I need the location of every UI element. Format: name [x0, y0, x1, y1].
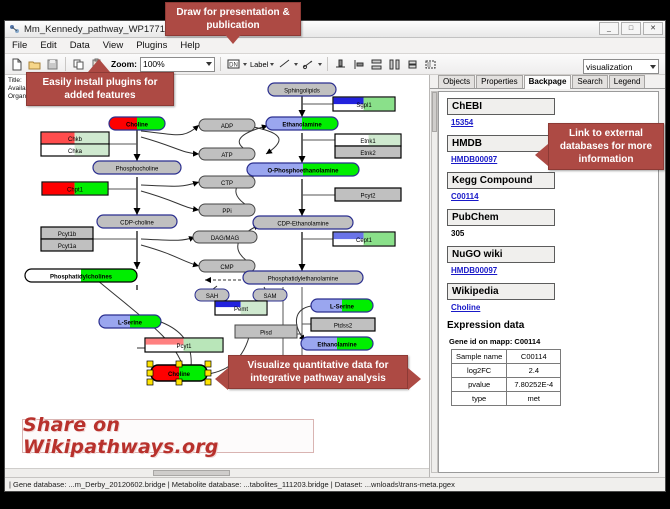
menu-file[interactable]: File [10, 40, 29, 51]
maximize-button[interactable]: □ [621, 22, 641, 35]
node-sam[interactable]: SAM [253, 289, 287, 301]
scrollbar-thumb[interactable] [153, 470, 229, 476]
db-header-wikipedia: Wikipedia [447, 283, 555, 300]
svg-text:L-Serine: L-Serine [330, 305, 355, 311]
svg-text:O-Phosphoethanolamine: O-Phosphoethanolamine [267, 169, 339, 175]
metabolite-nodes: Choline Phosphocholine CDP-choline [25, 83, 373, 350]
tab-properties[interactable]: Properties [476, 75, 522, 88]
open-file-icon[interactable] [27, 57, 42, 72]
callout-plugins: Easily install plugins for added feature… [26, 72, 174, 106]
svg-text:Choline: Choline [168, 372, 191, 378]
db-header-pubchem: PubChem [447, 209, 555, 226]
node-ethanolamine-bottom[interactable]: Ethanolamine [301, 337, 373, 350]
distribute-vertical-icon[interactable] [369, 57, 384, 72]
node-ethanolamine-top[interactable]: Ethanolamine [266, 117, 338, 130]
title-bar: Mm_Kennedy_pathway_WP1771_45176.gpml _ □… [5, 21, 665, 38]
tab-search[interactable]: Search [572, 75, 607, 88]
node-pcyt1[interactable]: Pcyt1 [145, 338, 223, 352]
callout-visualize-arrow-right-icon [408, 368, 421, 390]
chevron-down-icon [650, 65, 656, 69]
chevron-down-icon [243, 63, 247, 66]
chevron-down-icon [294, 63, 298, 66]
svg-text:DAG/MAG: DAG/MAG [211, 236, 240, 242]
node-choline-selected[interactable]: Choline [147, 361, 211, 385]
callout-links: Link to external databases for more info… [548, 123, 664, 170]
zoom-value: 100% [143, 59, 165, 69]
table-row: Sample name C00114 [452, 350, 561, 364]
node-cdp-choline[interactable]: CDP-choline [97, 215, 177, 228]
table-row: type met [452, 392, 561, 406]
gene-id-on-mapp: Gene id on mapp: C00114 [449, 337, 658, 346]
expression-data-title: Expression data [447, 320, 658, 331]
menu-help[interactable]: Help [178, 40, 202, 51]
node-l-serine-right[interactable]: L-Serine [311, 299, 373, 312]
status-text: | Gene database: ...m_Derby_20120602.bri… [9, 480, 455, 489]
row-value: 2.4 [507, 364, 561, 378]
callout-plugins-arrow-icon [88, 59, 110, 72]
svg-text:SAM: SAM [263, 294, 276, 300]
row-key: Sample name [452, 350, 507, 364]
interaction-tool[interactable] [301, 57, 322, 72]
zoom-combo[interactable]: 100% [140, 57, 215, 72]
new-file-icon[interactable] [9, 57, 24, 72]
svg-text:Pemt: Pemt [234, 307, 248, 313]
align-left-icon[interactable] [351, 57, 366, 72]
db-link-wikipedia[interactable]: Choline [451, 303, 658, 312]
svg-text:ATP: ATP [221, 153, 232, 159]
node-choline-top[interactable]: Choline [109, 117, 165, 130]
svg-text:Phosphatidylcholines: Phosphatidylcholines [50, 275, 113, 281]
node-sah[interactable]: SAH [195, 289, 229, 301]
visualization-combo-value: visualization [586, 62, 632, 72]
svg-text:CDP-choline: CDP-choline [120, 221, 154, 227]
node-pisd-reaction[interactable]: Pisd [235, 325, 297, 338]
datanode-tool[interactable]: DN [226, 57, 247, 72]
node-chka[interactable]: Chka [41, 144, 109, 156]
svg-text:Phosphocholine: Phosphocholine [116, 167, 159, 173]
table-row: pvalue 7.80252E-4 [452, 378, 561, 392]
svg-text:Pcyt1b: Pcyt1b [58, 232, 77, 238]
svg-text:Cept1: Cept1 [356, 238, 373, 244]
svg-text:CMP: CMP [220, 265, 233, 271]
svg-text:Ethanolamine: Ethanolamine [317, 343, 357, 349]
callout-share: Share on Wikipathways.org [22, 419, 314, 453]
tab-objects[interactable]: Objects [438, 75, 475, 88]
menu-plugins[interactable]: Plugins [134, 40, 169, 51]
db-value-pubchem: 305 [451, 229, 658, 238]
svg-text:CDP-Ethanolamine: CDP-Ethanolamine [277, 222, 329, 228]
svg-text:Phosphatidylethanolamine: Phosphatidylethanolamine [268, 277, 339, 283]
row-value: C00114 [507, 350, 561, 364]
line-tool[interactable] [277, 57, 298, 72]
svg-text:Ptdss2: Ptdss2 [334, 324, 353, 330]
chevron-down-icon [270, 63, 274, 66]
toolbar-separator [220, 57, 221, 71]
node-atp[interactable]: ATP [199, 148, 255, 160]
expression-data-table: Sample name C00114 log2FC 2.4 pvalue 7.8… [451, 349, 561, 406]
svg-text:Sphingolipids: Sphingolipids [284, 89, 320, 95]
callout-visualize-arrow-icon [215, 368, 228, 390]
svg-text:ADP: ADP [221, 124, 233, 130]
svg-text:L-Serine: L-Serine [118, 321, 143, 327]
minimize-button[interactable]: _ [599, 22, 619, 35]
callout-visualize: Visualize quantitative data for integrat… [228, 355, 408, 389]
distribute-horizontal-icon[interactable] [387, 57, 402, 72]
node-l-serine-left[interactable]: L-Serine [99, 315, 161, 328]
svg-text:Choline: Choline [126, 123, 149, 129]
backpage-vertical-scrollbar[interactable] [431, 91, 438, 473]
node-pcyt1a[interactable]: Pcyt1a [41, 239, 93, 251]
row-value: 7.80252E-4 [507, 378, 561, 392]
svg-text:PPi: PPi [222, 209, 231, 215]
canvas-horizontal-scrollbar[interactable] [5, 468, 429, 477]
node-pcyt1b[interactable]: Pcyt1b [41, 227, 93, 239]
svg-text:DN: DN [229, 63, 238, 69]
svg-text:Chpt1: Chpt1 [67, 188, 84, 194]
node-pcyt2[interactable]: Pcyt2 [335, 188, 401, 201]
db-header-nugo-wiki: NuGO wiki [447, 246, 555, 263]
node-ctp[interactable]: CTP [199, 176, 255, 188]
node-phosphatidylcholines[interactable]: Phosphatidylcholines [25, 269, 137, 282]
svg-text:Pisd: Pisd [260, 331, 272, 337]
node-phosphocholine[interactable]: Phosphocholine [93, 161, 181, 174]
callout-draw-arrow-icon [222, 31, 244, 44]
node-cept1[interactable]: Cept1 [333, 232, 395, 246]
table-row: log2FC 2.4 [452, 364, 561, 378]
toolbar-separator [65, 57, 66, 71]
node-ptdss2[interactable]: Ptdss2 [311, 318, 375, 331]
node-etnk2[interactable]: Etnk2 [335, 146, 401, 158]
node-pemt[interactable]: Pemt [215, 301, 267, 315]
node-etnk1[interactable]: Etnk1 [335, 134, 401, 146]
svg-text:Etnk1: Etnk1 [360, 139, 376, 145]
row-key: type [452, 392, 507, 406]
svg-text:SAH: SAH [206, 294, 218, 300]
svg-text:Pcyt1: Pcyt1 [176, 344, 192, 350]
node-phosphatidylethanolamine[interactable]: Phosphatidylethanolamine [243, 271, 363, 284]
visualization-combo[interactable]: visualization [583, 59, 659, 74]
chevron-down-icon [318, 63, 322, 66]
node-chkb[interactable]: Chkb [41, 132, 109, 144]
callout-links-arrow-icon [535, 144, 548, 166]
scrollbar-thumb[interactable] [432, 92, 437, 132]
row-key: log2FC [452, 364, 507, 378]
row-value: met [507, 392, 561, 406]
datanode-icon: DN [226, 57, 241, 72]
stack-icon[interactable] [405, 57, 420, 72]
db-header-kegg-compound: Kegg Compound [447, 172, 555, 189]
node-sphingolipids[interactable]: Sphingolipids [268, 83, 336, 96]
toolbar-separator [327, 57, 328, 71]
close-button[interactable]: ✕ [643, 22, 663, 35]
save-file-icon[interactable] [45, 57, 60, 72]
status-bar: | Gene database: ...m_Derby_20120602.bri… [5, 477, 665, 491]
svg-text:Chkb: Chkb [68, 137, 83, 143]
callout-share-text: Share on Wikipathways.org [23, 414, 313, 458]
interaction-icon [301, 57, 316, 72]
svg-text:Pcyt2: Pcyt2 [360, 194, 376, 200]
svg-text:Chka: Chka [68, 149, 83, 155]
menu-view[interactable]: View [101, 40, 125, 51]
label-tool[interactable]: Label [250, 60, 274, 69]
menu-bar: File Edit Data View Plugins Help [5, 38, 665, 54]
svg-text:Pcyt1a: Pcyt1a [58, 244, 77, 250]
align-top-icon[interactable] [333, 57, 348, 72]
svg-text:CTP: CTP [221, 181, 233, 187]
zoom-label: Zoom: [111, 59, 137, 69]
node-cmp[interactable]: CMP [199, 260, 255, 272]
node-sgpl1[interactable]: Sgpl1 [333, 97, 395, 111]
node-dag-mag[interactable]: DAG/MAG [193, 231, 257, 243]
side-panel-tabs: Objects Properties Backpage Search Legen… [430, 75, 665, 89]
group-icon[interactable] [423, 57, 438, 72]
db-link-kegg-compound[interactable]: C00114 [451, 192, 658, 201]
tab-legend[interactable]: Legend [609, 75, 646, 88]
label-tool-text: Label [250, 60, 268, 69]
db-header-chebi: ChEBI [447, 98, 555, 115]
window-controls: _ □ ✕ [599, 22, 663, 35]
pathvisio-icon [9, 24, 20, 35]
node-cdp-ethanolamine[interactable]: CDP-Ethanolamine [253, 216, 353, 229]
node-adp[interactable]: ADP [199, 119, 255, 131]
copy-icon[interactable] [71, 57, 86, 72]
db-link-nugo-wiki[interactable]: HMDB00097 [451, 266, 658, 275]
chevron-down-icon [206, 62, 212, 66]
node-o-phosphoethanolamine[interactable]: O-Phosphoethanolamine [247, 163, 359, 176]
menu-data[interactable]: Data [68, 40, 92, 51]
tab-backpage[interactable]: Backpage [524, 75, 572, 89]
svg-text:Sgpl1: Sgpl1 [356, 103, 372, 109]
node-chpt1[interactable]: Chpt1 [42, 182, 108, 195]
menu-edit[interactable]: Edit [38, 40, 58, 51]
svg-text:Etnk2: Etnk2 [360, 151, 376, 157]
svg-text:Ethanolamine: Ethanolamine [282, 123, 322, 129]
node-ppi[interactable]: PPi [199, 204, 255, 216]
line-icon [277, 57, 292, 72]
row-key: pvalue [452, 378, 507, 392]
